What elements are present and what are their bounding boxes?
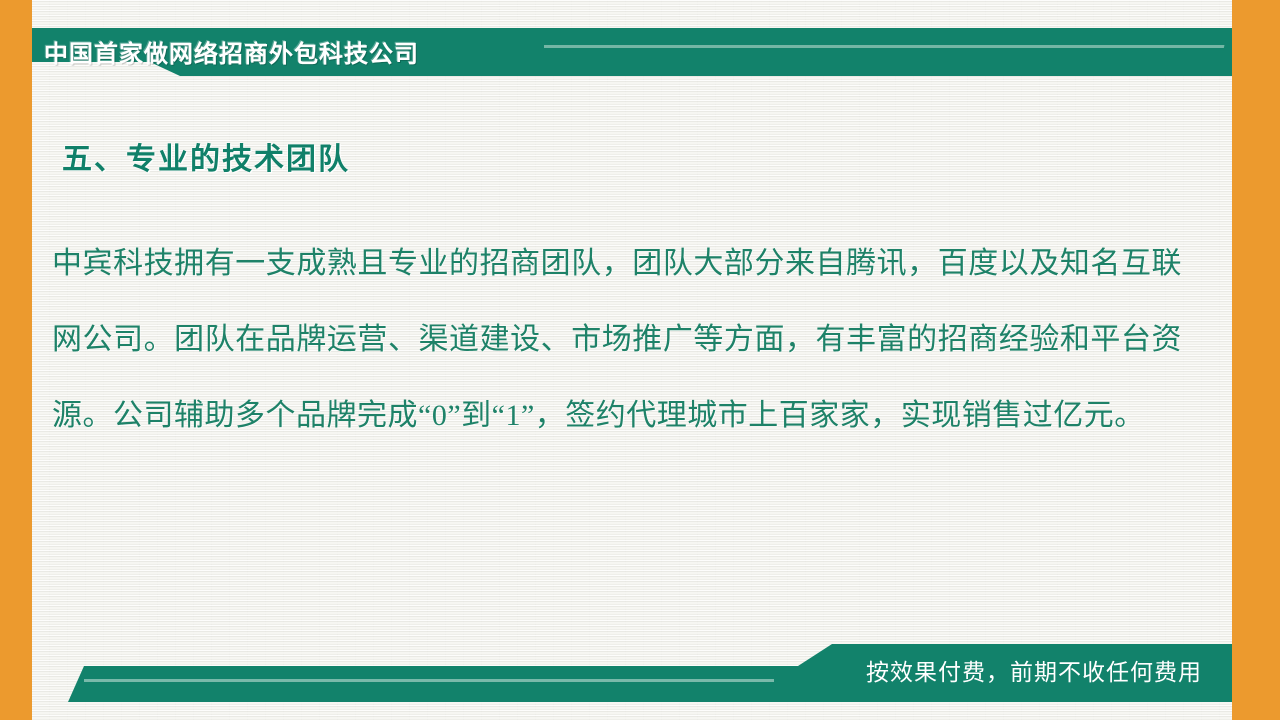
slide-root: 中国首家做网络招商外包科技公司 五、专业的技术团队 中宾科技拥有一支成熟且专业的… [0, 0, 1280, 720]
header-title: 中国首家做网络招商外包科技公司 [44, 34, 419, 69]
body-paragraph-block: 中宾科技拥有一支成熟且专业的招商团队，团队大部分来自腾讯，百度以及知名互联网公司… [52, 226, 1182, 454]
body-paragraph: 中宾科技拥有一支成熟且专业的招商团队，团队大部分来自腾讯，百度以及知名互联网公司… [52, 226, 1182, 454]
footer-tagline: 按效果付费，前期不收任何费用 [866, 653, 1202, 687]
section-heading: 五、专业的技术团队 [62, 134, 350, 178]
